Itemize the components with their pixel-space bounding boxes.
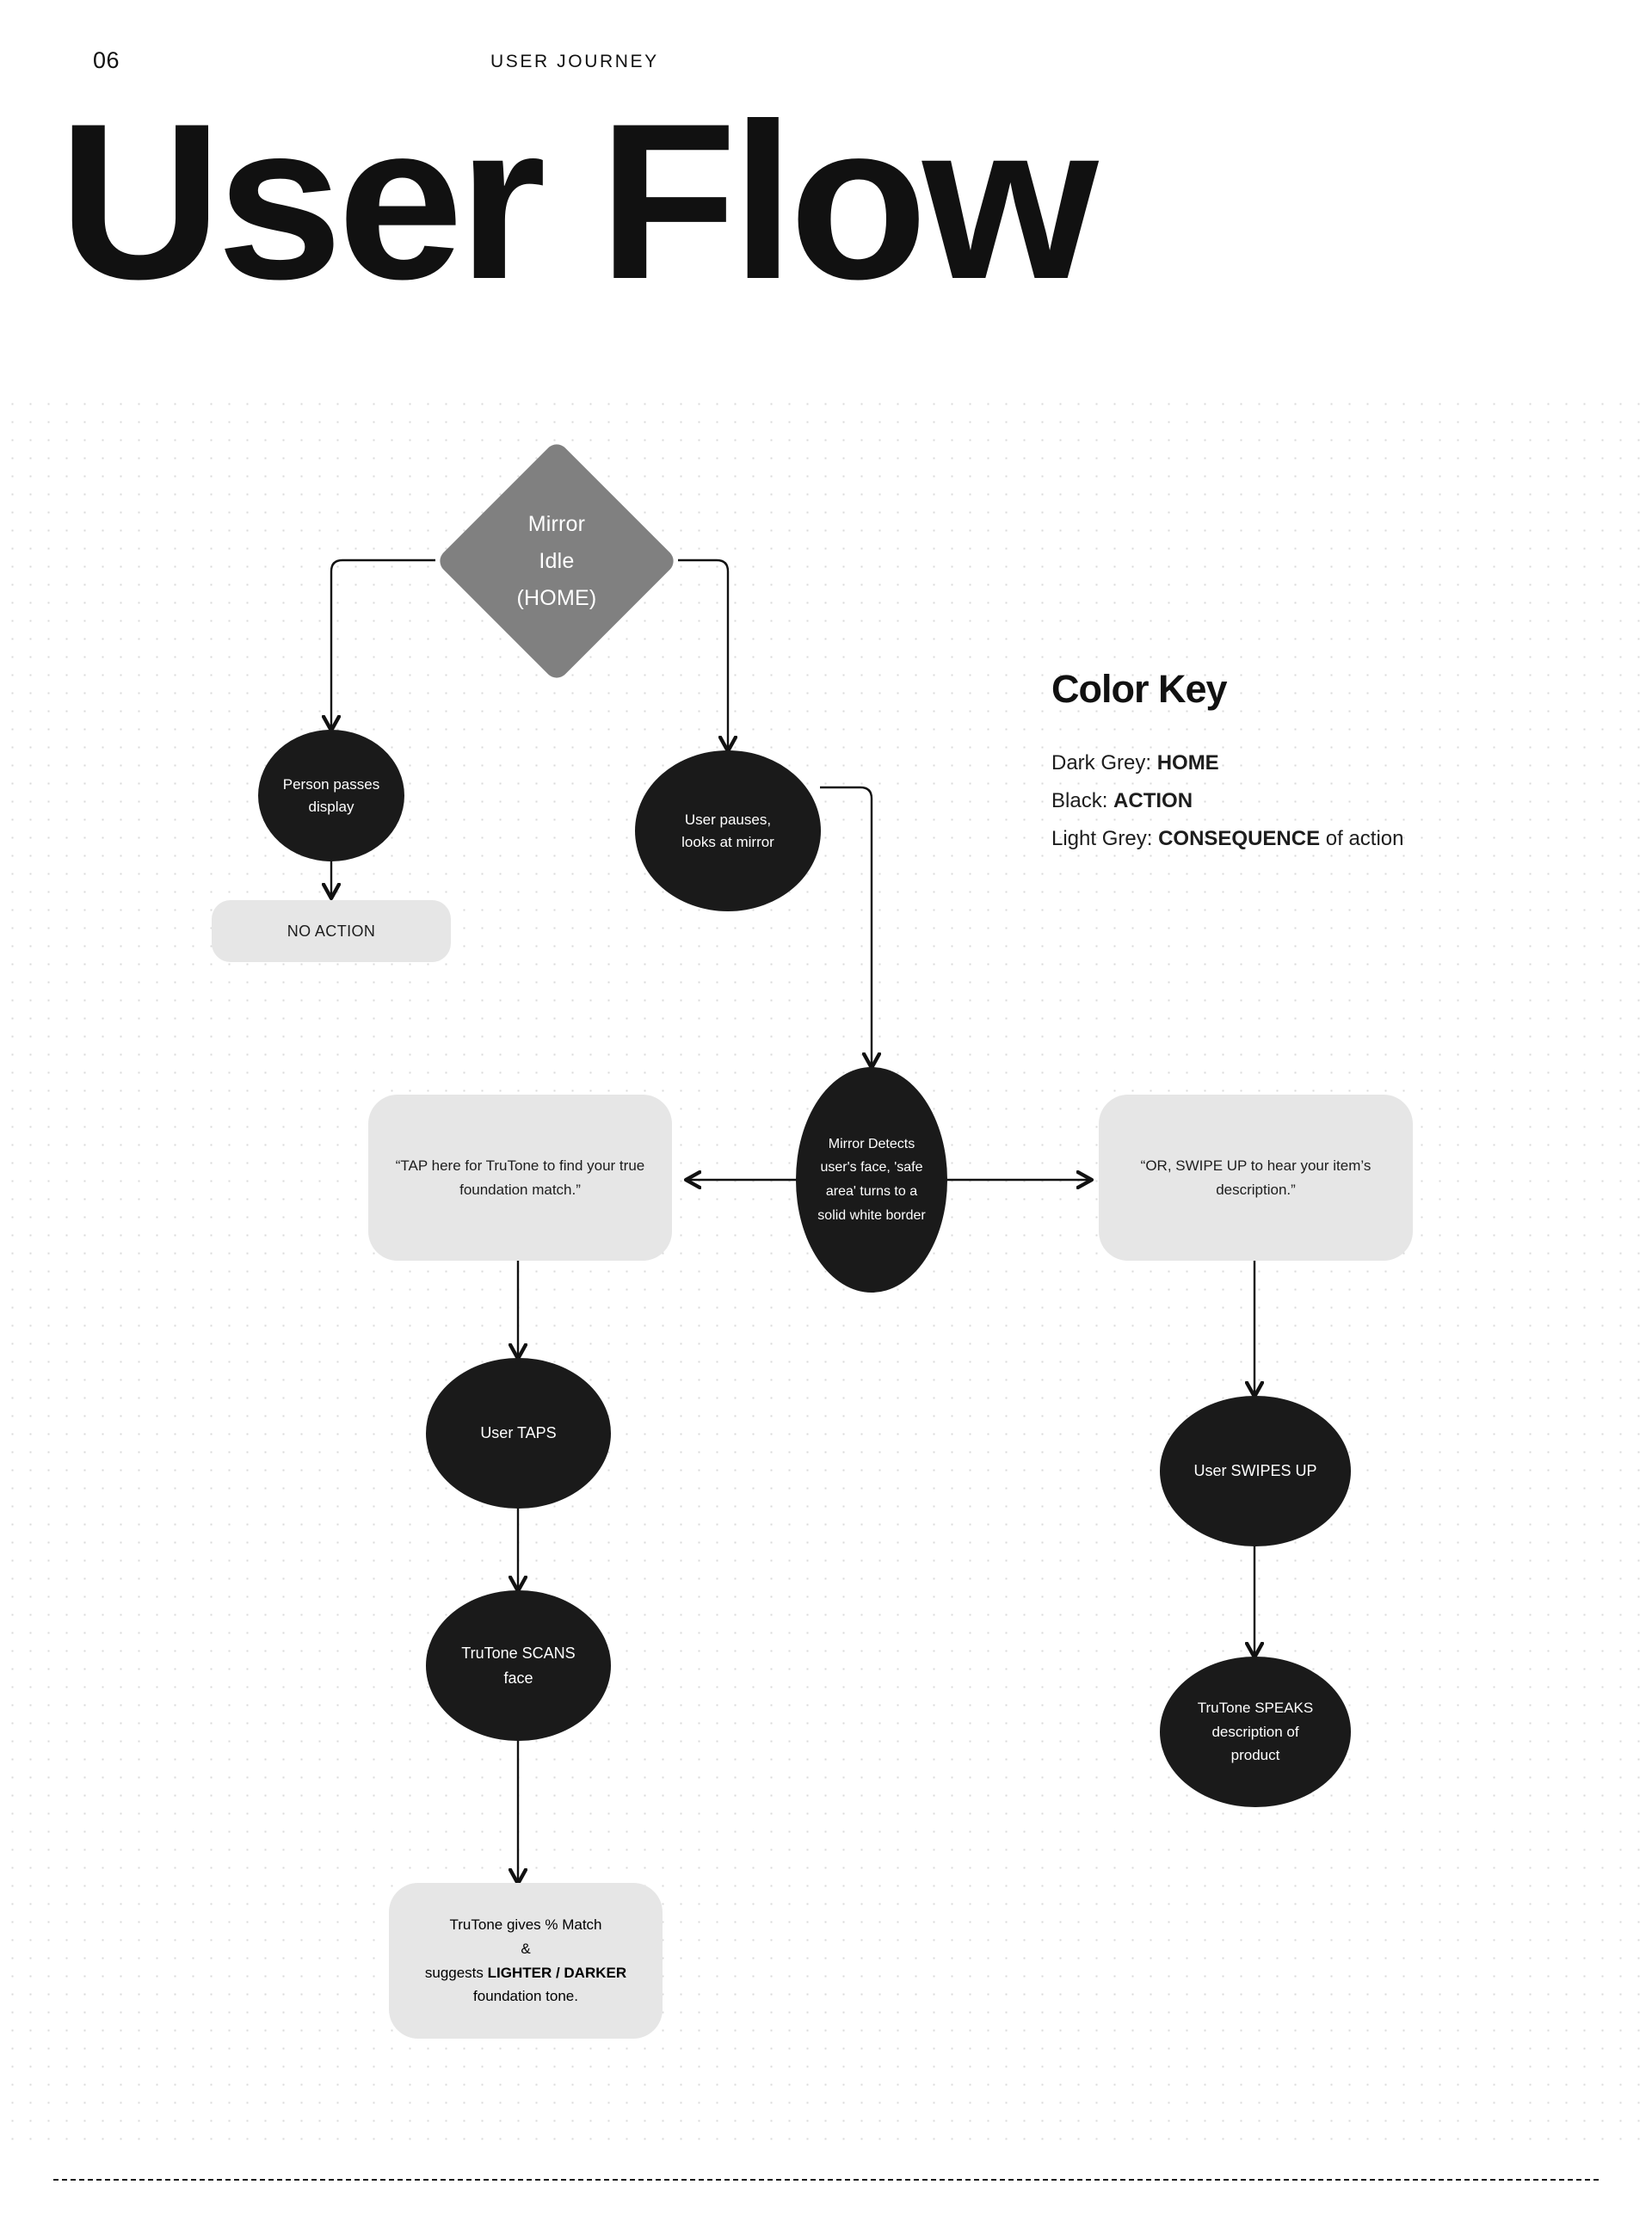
node-person-passes-display-label: Person passes display: [283, 774, 379, 818]
footer-divider: [53, 2179, 1599, 2181]
color-key-item-consequence: Light Grey: CONSEQUENCE of action: [1051, 820, 1585, 858]
node-swipe-prompt-label: “OR, SWIPE UP to hear your item’s descri…: [1141, 1154, 1372, 1201]
edge-idle-to-person-passes: [331, 560, 435, 730]
node-user-taps[interactable]: User TAPS: [426, 1358, 611, 1509]
node-mirror-idle-label: Mirror Idle (HOME): [517, 505, 597, 616]
match-result-line-3-prefix: suggests: [425, 1965, 488, 1981]
edge-user-pauses-to-mirror-detects: [820, 787, 872, 1067]
section-label: USER JOURNEY: [490, 52, 659, 72]
page-number: 06: [93, 47, 120, 74]
match-result-line-2: &: [521, 1937, 530, 1961]
edge-idle-to-user-pauses: [678, 560, 728, 750]
color-key-home-value: HOME: [1157, 751, 1219, 774]
node-user-swipes-up-label: User SWIPES UP: [1193, 1462, 1316, 1480]
color-key-action-value: ACTION: [1113, 789, 1193, 812]
node-mirror-detects[interactable]: Mirror Detects user's face, 'safe area' …: [796, 1067, 947, 1293]
node-trutone-speaks-label: TruTone SPEAKS description of product: [1198, 1696, 1314, 1768]
node-trutone-speaks[interactable]: TruTone SPEAKS description of product: [1160, 1657, 1351, 1807]
match-result-line-4: foundation tone.: [473, 1984, 578, 2009]
node-user-taps-label: User TAPS: [480, 1424, 556, 1442]
color-key-consequence-value: CONSEQUENCE: [1158, 827, 1320, 850]
color-key-consequence-suffix: of action: [1320, 827, 1403, 850]
node-tap-prompt[interactable]: “TAP here for TruTone to find your true …: [368, 1095, 672, 1261]
match-result-line-1: TruTone gives % Match: [450, 1913, 602, 1937]
node-mirror-detects-label: Mirror Detects user's face, 'safe area' …: [817, 1132, 925, 1227]
node-swipe-prompt[interactable]: “OR, SWIPE UP to hear your item’s descri…: [1099, 1095, 1413, 1261]
match-result-line-3-strong: LIGHTER / DARKER: [488, 1965, 627, 1981]
slide-page: 06 USER JOURNEY User Flow Color Key Dark…: [0, 0, 1652, 2234]
color-key-consequence-prefix: Light Grey:: [1051, 827, 1158, 850]
node-tap-prompt-label: “TAP here for TruTone to find your true …: [396, 1154, 644, 1201]
node-user-pauses-label: User pauses, looks at mirror: [681, 809, 774, 853]
node-trutone-scans-face-label: TruTone SCANS face: [461, 1641, 575, 1691]
match-result-line-3: suggests LIGHTER / DARKER: [425, 1961, 626, 1985]
color-key: Color Key Dark Grey: HOME Black: ACTION …: [1051, 667, 1585, 858]
node-match-result[interactable]: TruTone gives % Match & suggests LIGHTER…: [389, 1883, 663, 2039]
color-key-action-prefix: Black:: [1051, 789, 1113, 812]
color-key-heading: Color Key: [1051, 667, 1585, 712]
node-no-action[interactable]: NO ACTION: [212, 900, 451, 962]
node-trutone-scans-face[interactable]: TruTone SCANS face: [426, 1590, 611, 1741]
node-user-pauses[interactable]: User pauses, looks at mirror: [635, 750, 821, 911]
color-key-item-action: Black: ACTION: [1051, 782, 1585, 820]
node-mirror-idle[interactable]: Mirror Idle (HOME): [435, 440, 679, 683]
color-key-home-prefix: Dark Grey:: [1051, 751, 1157, 774]
node-user-swipes-up[interactable]: User SWIPES UP: [1160, 1396, 1351, 1546]
color-key-item-home: Dark Grey: HOME: [1051, 744, 1585, 782]
node-person-passes-display[interactable]: Person passes display: [258, 730, 404, 861]
page-title: User Flow: [59, 93, 1638, 311]
node-no-action-label: NO ACTION: [287, 923, 376, 941]
